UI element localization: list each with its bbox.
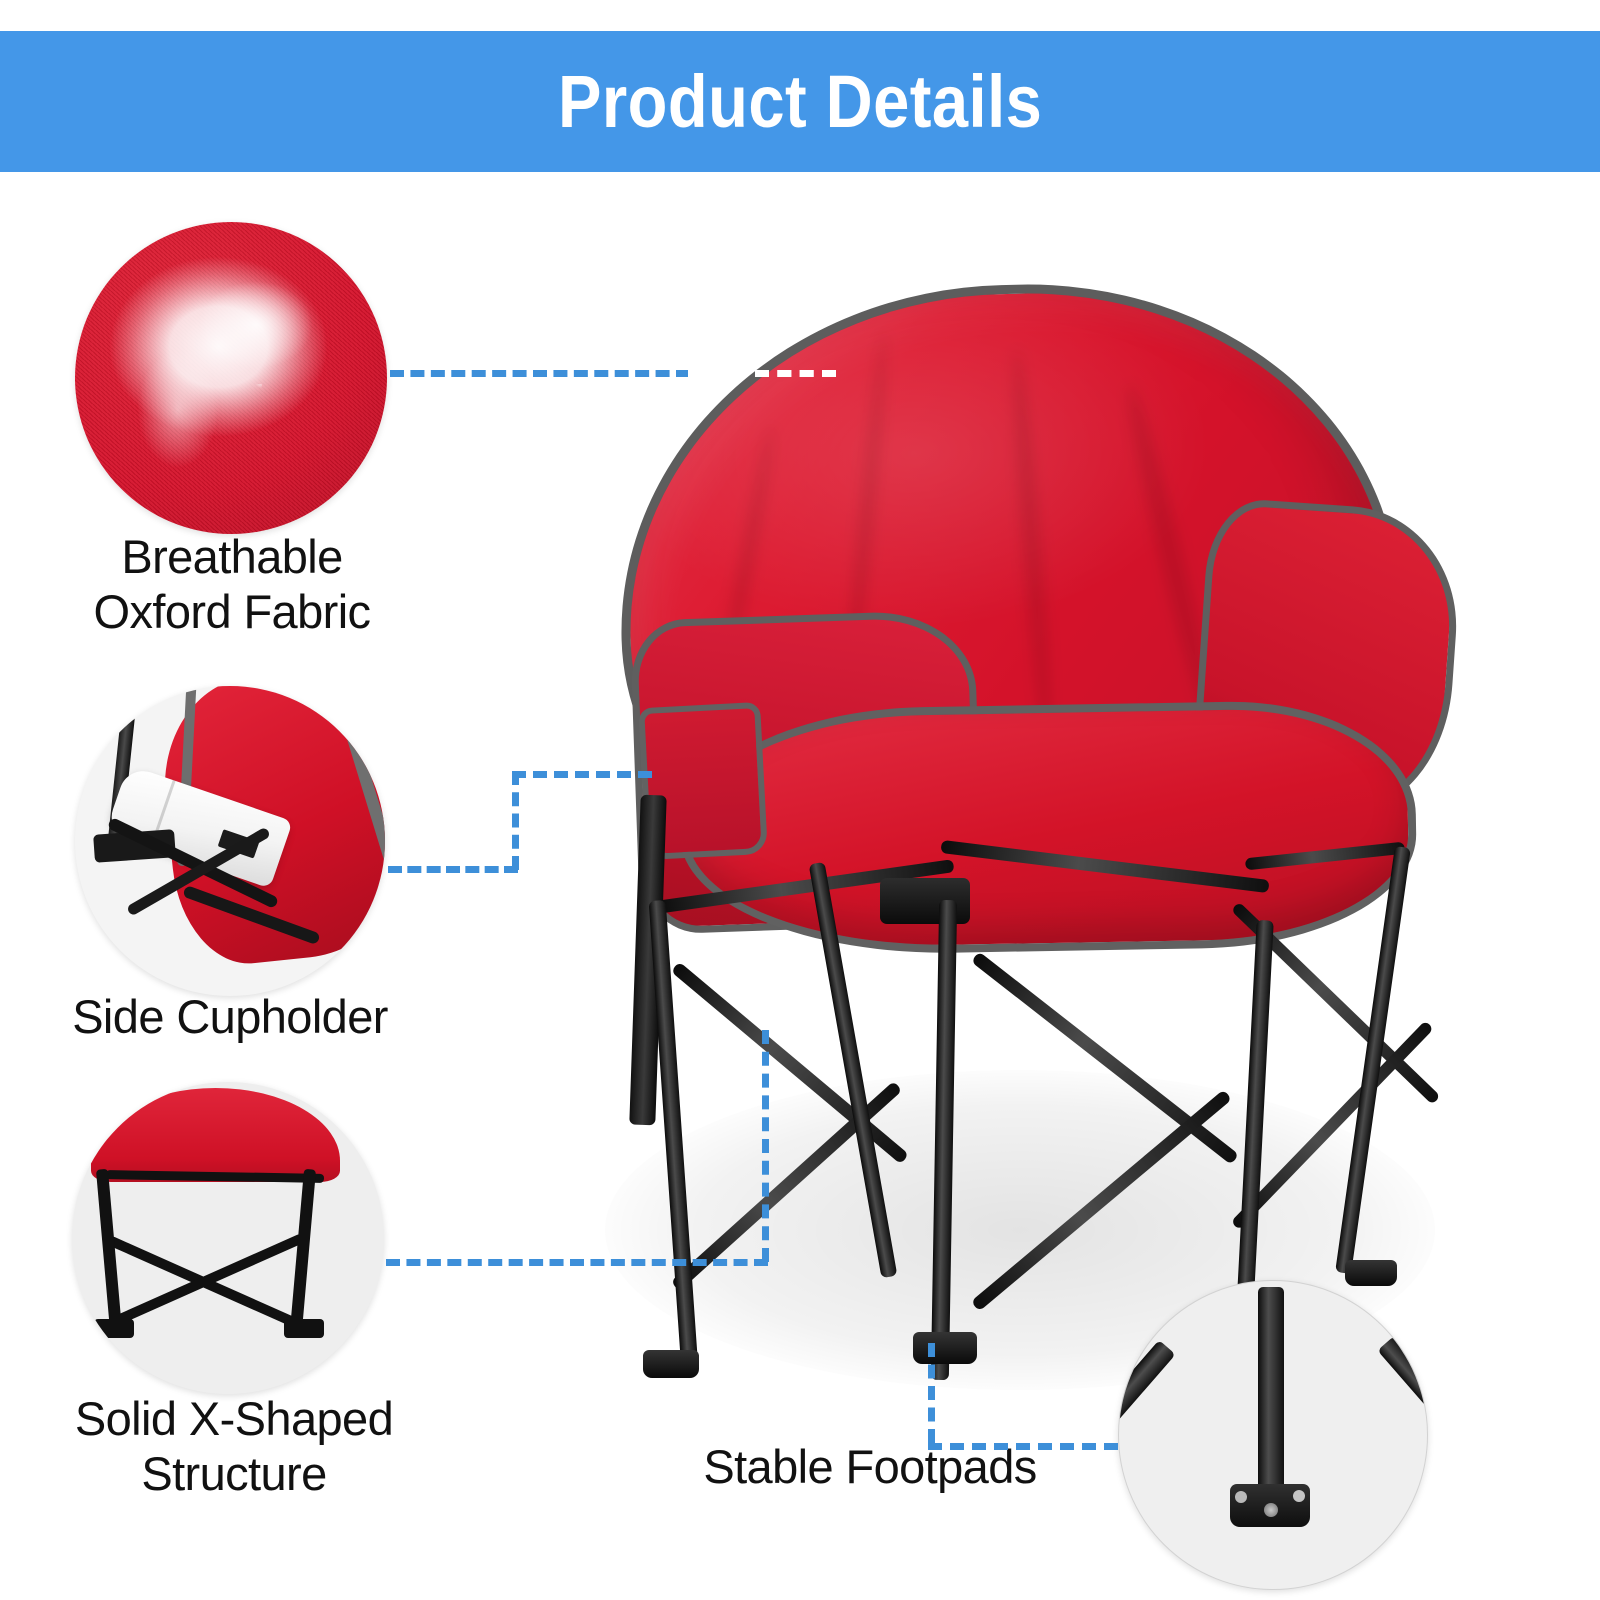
chair-upholstery: [580, 285, 1390, 915]
frame-tube: [1258, 1287, 1284, 1496]
connector-line-cupholder-seg2: [512, 771, 519, 870]
fabric-fold: [1008, 349, 1058, 752]
air-stream-icon: [156, 384, 262, 509]
chair-leg: [96, 1169, 122, 1332]
footpad-joint-icon: [1118, 1280, 1428, 1590]
footpad-block: [1230, 1484, 1310, 1527]
rivet-icon: [1293, 1490, 1305, 1502]
bottle-in-pocket-icon: [75, 686, 385, 996]
footpad: [643, 1350, 699, 1378]
connector-line-cupholder-seg1: [388, 866, 518, 873]
connector-line-fabric: [390, 370, 690, 377]
footpad: [94, 1319, 134, 1338]
footpad: [284, 1319, 324, 1338]
page-title: Product Details: [558, 65, 1042, 139]
feature-caption-solid-x-shaped-structure: Solid X-Shaped Structure: [24, 1392, 444, 1502]
footpad: [1345, 1260, 1397, 1286]
infographic-canvas: Product Details: [0, 0, 1600, 1600]
fabric-swatch-with-air-puff-icon: [75, 222, 387, 534]
seat-top-fabric: [91, 1088, 341, 1182]
footpad: [913, 1332, 977, 1364]
feature-caption-side-cupholder: Side Cupholder: [30, 990, 430, 1045]
connector-line-cupholder-seg3: [512, 771, 652, 778]
connector-line-xframe-seg2: [762, 1030, 769, 1262]
connector-line-footpads-seg1: [928, 1343, 935, 1443]
chair-seat-cushion: [678, 699, 1418, 958]
x-frame-icon: [72, 1082, 384, 1394]
header-banner: Product Details: [0, 31, 1600, 172]
rivet-icon: [1235, 1491, 1247, 1503]
feature-caption-breathable-oxford-fabric: Breathable Oxford Fabric: [42, 530, 422, 640]
connector-line-fabric-overlay: [688, 370, 836, 377]
chair-leg: [290, 1169, 316, 1332]
pocket-seam: [330, 686, 385, 879]
connector-line-footpads-seg2: [928, 1443, 1118, 1450]
connector-line-xframe-seg1: [386, 1259, 768, 1266]
screw-icon: [1264, 1503, 1278, 1517]
